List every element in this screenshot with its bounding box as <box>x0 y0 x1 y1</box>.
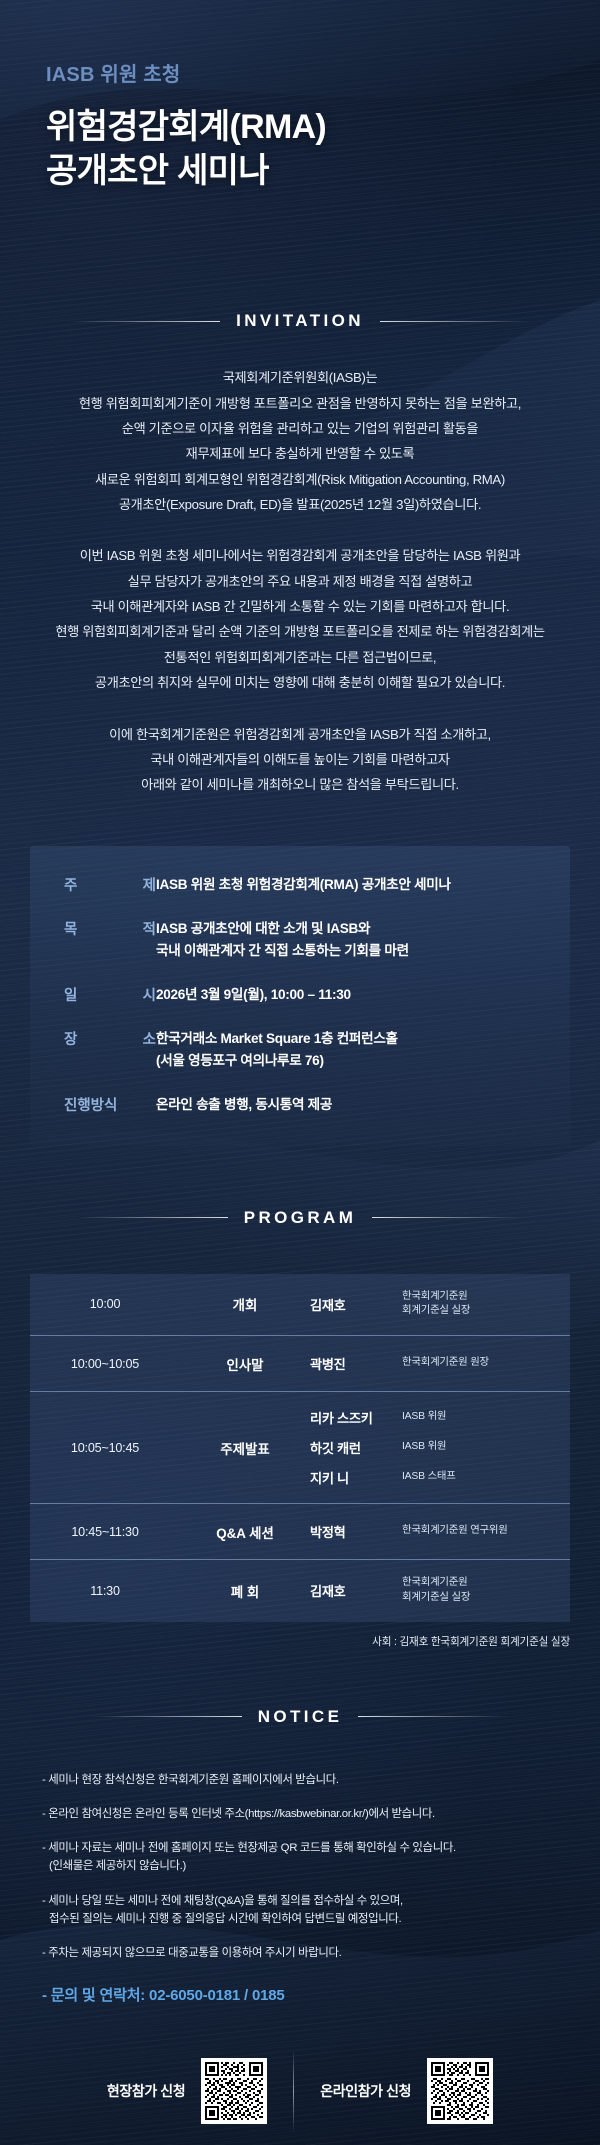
program-person-affiliation: IASB 위원 <box>402 1410 570 1425</box>
invitation-body: 국제회계기준위원회(IASB)는현행 위험회피회계기준이 개방형 포트폴리오 관… <box>0 365 600 797</box>
program-topic: 주제발표 <box>180 1438 310 1458</box>
invitation-line: 공개초안(Exposure Draft, ED)을 발표(2025년 12월 3… <box>0 492 600 517</box>
detail-label-char-b: 제 <box>143 874 156 896</box>
program-topic: 개회 <box>180 1294 310 1314</box>
detail-row-value: 온라인 송출 병행, 동시통역 제공 <box>156 1094 332 1116</box>
notice-item-main: - 세미나 현장 참석신청은 한국회계기준원 홈페이지에서 받습니다. <box>42 1774 339 1786</box>
table-row: 10:00~10:05인사말곽병진한국회계기준원 원장 <box>30 1336 570 1392</box>
invitation-line: 순액 기준으로 이자율 위험을 관리하고 있는 기업의 위험관리 활동을 <box>0 416 600 441</box>
detail-value-line: IASB 위원 초청 위험경감회계(RMA) 공개초안 세미나 <box>156 874 451 896</box>
program-person-affiliation: 한국회계기준원회계기준실 실장 <box>402 1290 570 1320</box>
program-person: 박정혁한국회계기준원 연구위원 <box>310 1522 570 1541</box>
table-row: 10:45~11:30Q&A 세션박정혁한국회계기준원 연구위원 <box>30 1504 570 1560</box>
detail-row: 장소한국거래소 Market Square 1층 컨퍼런스홀(서울 영등포구 여… <box>30 1028 570 1072</box>
hero-title-line-2: 공개초안 세미나 <box>46 149 600 193</box>
notice-item: - 세미나 현장 참석신청은 한국회계기준원 홈페이지에서 받습니다. <box>42 1771 558 1789</box>
program-person: 리카 스즈키IASB 위원 <box>310 1408 570 1427</box>
program-person: 김재호한국회계기준원회계기준실 실장 <box>310 1290 570 1320</box>
program-person-name: 김재호 <box>310 1581 402 1600</box>
program-time: 11:30 <box>30 1584 180 1598</box>
program-person-affiliation: IASB 위원 <box>402 1440 570 1455</box>
program-person-name: 하깃 캐런 <box>310 1438 402 1457</box>
program-topic: Q&A 세션 <box>180 1522 310 1542</box>
detail-label-char-b: 소 <box>143 1028 156 1072</box>
onsite-registration-label: 현장참가 신청 <box>107 2081 185 2101</box>
notice-heading: NOTICE <box>258 1707 343 1727</box>
online-registration-label: 온라인참가 신청 <box>320 2081 411 2101</box>
program-table: 10:00개회김재호한국회계기준원회계기준실 실장10:00~10:05인사말곽… <box>30 1274 570 1622</box>
program-topic: 인사말 <box>180 1354 310 1374</box>
invitation-heading: INVITATION <box>236 311 364 331</box>
program-people: 김재호한국회계기준원회계기준실 실장 <box>310 1290 570 1320</box>
program-person-name: 리카 스즈키 <box>310 1408 402 1427</box>
hero-eyebrow: IASB 위원 초청 <box>46 58 600 87</box>
detail-row-label: 목적 <box>64 918 156 962</box>
program-people: 김재호한국회계기준원회계기준실 실장 <box>310 1576 570 1606</box>
detail-row-value: IASB 위원 초청 위험경감회계(RMA) 공개초안 세미나 <box>156 874 451 896</box>
qr-code-icon <box>431 2062 489 2120</box>
program-people: 리카 스즈키IASB 위원하깃 캐런IASB 위원지키 니IASB 스태프 <box>310 1408 570 1487</box>
online-qr-code-icon[interactable] <box>427 2058 493 2124</box>
online-registration-block[interactable]: 온라인참가 신청 <box>294 2058 519 2124</box>
program-topic: 폐 회 <box>180 1581 310 1601</box>
program-person-affiliation: IASB 스태프 <box>402 1470 570 1485</box>
detail-value-line: (서울 영등포구 여의나루로 76) <box>156 1050 398 1072</box>
seminar-details-panel: 주제IASB 위원 초청 위험경감회계(RMA) 공개초안 세미나목적IASB … <box>30 846 570 1146</box>
invitation-line: 현행 위험회피회계기준이 개방형 포트폴리오 관점을 반영하지 못하는 점을 보… <box>0 391 600 416</box>
detail-value-line: IASB 공개초안에 대한 소개 및 IASB와 <box>156 918 409 940</box>
invitation-section-header: INVITATION <box>46 311 554 331</box>
invitation-line: 국내 이해관계자와 IASB 간 긴밀하게 소통할 수 있는 기회를 마련하고자… <box>0 594 600 619</box>
detail-row-value: 한국거래소 Market Square 1층 컨퍼런스홀(서울 영등포구 여의나… <box>156 1028 398 1072</box>
detail-label-char-a: 장 <box>64 1028 77 1072</box>
invitation-line: 재무제표에 보다 충실하게 반영할 수 있도록 <box>0 441 600 466</box>
program-time: 10:00 <box>30 1297 180 1311</box>
detail-label-char-a: 주 <box>64 874 77 896</box>
notice-section-header: NOTICE <box>46 1707 554 1727</box>
notice-item-main: - 세미나 자료는 세미나 전에 홈페이지 또는 현장제공 QR 코드를 통해 … <box>42 1842 456 1854</box>
detail-row-value: IASB 공개초안에 대한 소개 및 IASB와국내 이해관계자 간 직접 소통… <box>156 918 409 962</box>
notice-item: - 세미나 자료는 세미나 전에 홈페이지 또는 현장제공 QR 코드를 통해 … <box>42 1839 558 1876</box>
program-heading: PROGRAM <box>244 1208 357 1228</box>
detail-label-char-a: 목 <box>64 918 77 962</box>
detail-row-label: 일시 <box>64 984 156 1006</box>
program-time: 10:05~10:45 <box>30 1441 180 1455</box>
invitation-line: 공개초안의 취지와 실무에 미치는 영향에 대해 충분히 이해할 필요가 있습니… <box>0 670 600 695</box>
program-person-affiliation: 한국회계기준원회계기준실 실장 <box>402 1576 570 1606</box>
detail-row: 주제IASB 위원 초청 위험경감회계(RMA) 공개초안 세미나 <box>30 874 570 896</box>
hero-title-line-1: 위험경감회계(RMA) <box>46 105 600 149</box>
program-people: 박정혁한국회계기준원 연구위원 <box>310 1522 570 1541</box>
notice-item: - 온라인 참여신청은 온라인 등록 인터넷 주소(https://kasbwe… <box>42 1805 558 1823</box>
program-person: 김재호한국회계기준원회계기준실 실장 <box>310 1576 570 1606</box>
program-person: 하깃 캐런IASB 위원 <box>310 1438 570 1457</box>
notice-item-main: - 온라인 참여신청은 온라인 등록 인터넷 주소(https://kasbwe… <box>42 1808 435 1820</box>
program-person-name: 지키 니 <box>310 1468 402 1487</box>
invitation-line: 새로운 위험회피 회계모형인 위험경감회계(Risk Mitigation Ac… <box>0 467 600 492</box>
rule-left <box>70 321 220 322</box>
invitation-line: 이번 IASB 위원 초청 세미나에서는 위험경감회계 공개초안을 담당하는 I… <box>0 543 600 568</box>
rule-left <box>78 1217 228 1218</box>
qr-code-icon <box>205 2062 263 2120</box>
program-person-name: 김재호 <box>310 1295 402 1314</box>
table-row: 11:30폐 회김재호한국회계기준원회계기준실 실장 <box>30 1560 570 1622</box>
program-time: 10:00~10:05 <box>30 1357 180 1371</box>
invitation-line: 현행 위험회피회계기준과 달리 순액 기준의 개방형 포트폴리오를 전제로 하는… <box>0 619 600 644</box>
detail-row-label: 진행방식 <box>64 1094 156 1116</box>
detail-row: 일시2026년 3월 9일(월), 10:00 – 11:30 <box>30 984 570 1006</box>
program-section-header: PROGRAM <box>46 1208 554 1228</box>
program-person-name: 곽병진 <box>310 1354 402 1373</box>
hero-section: IASB 위원 초청 위험경감회계(RMA) 공개초안 세미나 <box>0 0 600 193</box>
detail-value-line: 2026년 3월 9일(월), 10:00 – 11:30 <box>156 984 351 1006</box>
rule-right <box>358 1716 508 1717</box>
invitation-paragraph: 이에 한국회계기준원은 위험경감회계 공개초안을 IASB가 직접 소개하고,국… <box>0 722 600 798</box>
detail-label-char-a: 일 <box>64 984 77 1006</box>
registration-footer: 현장참가 신청 <box>0 2049 600 2133</box>
page-title: 위험경감회계(RMA) 공개초안 세미나 <box>46 105 600 193</box>
notice-item-sub: 접수된 질의는 세미나 진행 중 질의응답 시간에 확인하여 답변드릴 예정입니… <box>42 1910 558 1928</box>
program-person: 곽병진한국회계기준원 원장 <box>310 1354 570 1373</box>
invitation-paragraph: 이번 IASB 위원 초청 세미나에서는 위험경감회계 공개초안을 담당하는 I… <box>0 543 600 695</box>
poster-content: IASB 위원 초청 위험경감회계(RMA) 공개초안 세미나 INVITATI… <box>0 0 600 2133</box>
rule-right <box>372 1217 522 1218</box>
program-person: 지키 니IASB 스태프 <box>310 1468 570 1487</box>
detail-row: 목적IASB 공개초안에 대한 소개 및 IASB와국내 이해관계자 간 직접 … <box>30 918 570 962</box>
onsite-registration-block[interactable]: 현장참가 신청 <box>81 2058 293 2124</box>
detail-value-line: 온라인 송출 병행, 동시통역 제공 <box>156 1094 332 1116</box>
invitation-line: 국제회계기준위원회(IASB)는 <box>0 365 600 390</box>
invitation-line: 아래와 같이 세미나를 개최하오니 많은 참석을 부탁드립니다. <box>0 772 600 797</box>
program-time: 10:45~11:30 <box>30 1525 180 1539</box>
rule-right <box>380 321 530 322</box>
notice-item-main: - 주차는 제공되지 않으므로 대중교통을 이용하여 주시기 바랍니다. <box>42 1947 341 1959</box>
notice-item: - 주차는 제공되지 않으므로 대중교통을 이용하여 주시기 바랍니다. <box>42 1944 558 1962</box>
rule-left <box>92 1716 242 1717</box>
program-moderator: 사회 : 김재호 한국회계기준원 회계기준실 실장 <box>0 1634 570 1649</box>
invitation-line: 전통적인 위험회피회계기준과는 다른 접근법이므로, <box>0 645 600 670</box>
contact-line: - 문의 및 연락처: 02-6050-0181 / 0185 <box>42 1984 558 2005</box>
program-people: 곽병진한국회계기준원 원장 <box>310 1354 570 1373</box>
onsite-qr-code-icon[interactable] <box>201 2058 267 2124</box>
program-person-name: 박정혁 <box>310 1522 402 1541</box>
notice-item: - 세미나 당일 또는 세미나 전에 채팅창(Q&A)을 통해 질의를 접수하실… <box>42 1892 558 1929</box>
detail-label-char-b: 시 <box>143 984 156 1006</box>
detail-value-line: 한국거래소 Market Square 1층 컨퍼런스홀 <box>156 1028 398 1050</box>
notice-item-sub: (인쇄물은 제공하지 않습니다.) <box>42 1857 558 1875</box>
detail-row-label: 장소 <box>64 1028 156 1072</box>
detail-row: 진행방식온라인 송출 병행, 동시통역 제공 <box>30 1094 570 1116</box>
detail-label-char-b: 적 <box>143 918 156 962</box>
detail-row-value: 2026년 3월 9일(월), 10:00 – 11:30 <box>156 984 351 1006</box>
program-person-affiliation: 한국회계기준원 연구위원 <box>402 1524 570 1539</box>
detail-value-line: 국내 이해관계자 간 직접 소통하는 기회를 마련 <box>156 940 409 962</box>
detail-row-label: 주제 <box>64 874 156 896</box>
invitation-line: 실무 담당자가 공개초안의 주요 내용과 제정 배경을 직접 설명하고 <box>0 569 600 594</box>
notice-item-main: - 세미나 당일 또는 세미나 전에 채팅창(Q&A)을 통해 질의를 접수하실… <box>42 1895 403 1907</box>
table-row: 10:00개회김재호한국회계기준원회계기준실 실장 <box>30 1274 570 1337</box>
table-row: 10:05~10:45주제발표리카 스즈키IASB 위원하깃 캐런IASB 위원… <box>30 1392 570 1504</box>
invitation-line: 이에 한국회계기준원은 위험경감회계 공개초안을 IASB가 직접 소개하고, <box>0 722 600 747</box>
program-person-affiliation: 한국회계기준원 원장 <box>402 1356 570 1371</box>
invitation-paragraph: 국제회계기준위원회(IASB)는현행 위험회피회계기준이 개방형 포트폴리오 관… <box>0 365 600 517</box>
invitation-line: 국내 이해관계자들의 이해도를 높이는 기회를 마련하고자 <box>0 747 600 772</box>
notice-list: - 세미나 현장 참석신청은 한국회계기준원 홈페이지에서 받습니다.- 온라인… <box>42 1771 558 2006</box>
